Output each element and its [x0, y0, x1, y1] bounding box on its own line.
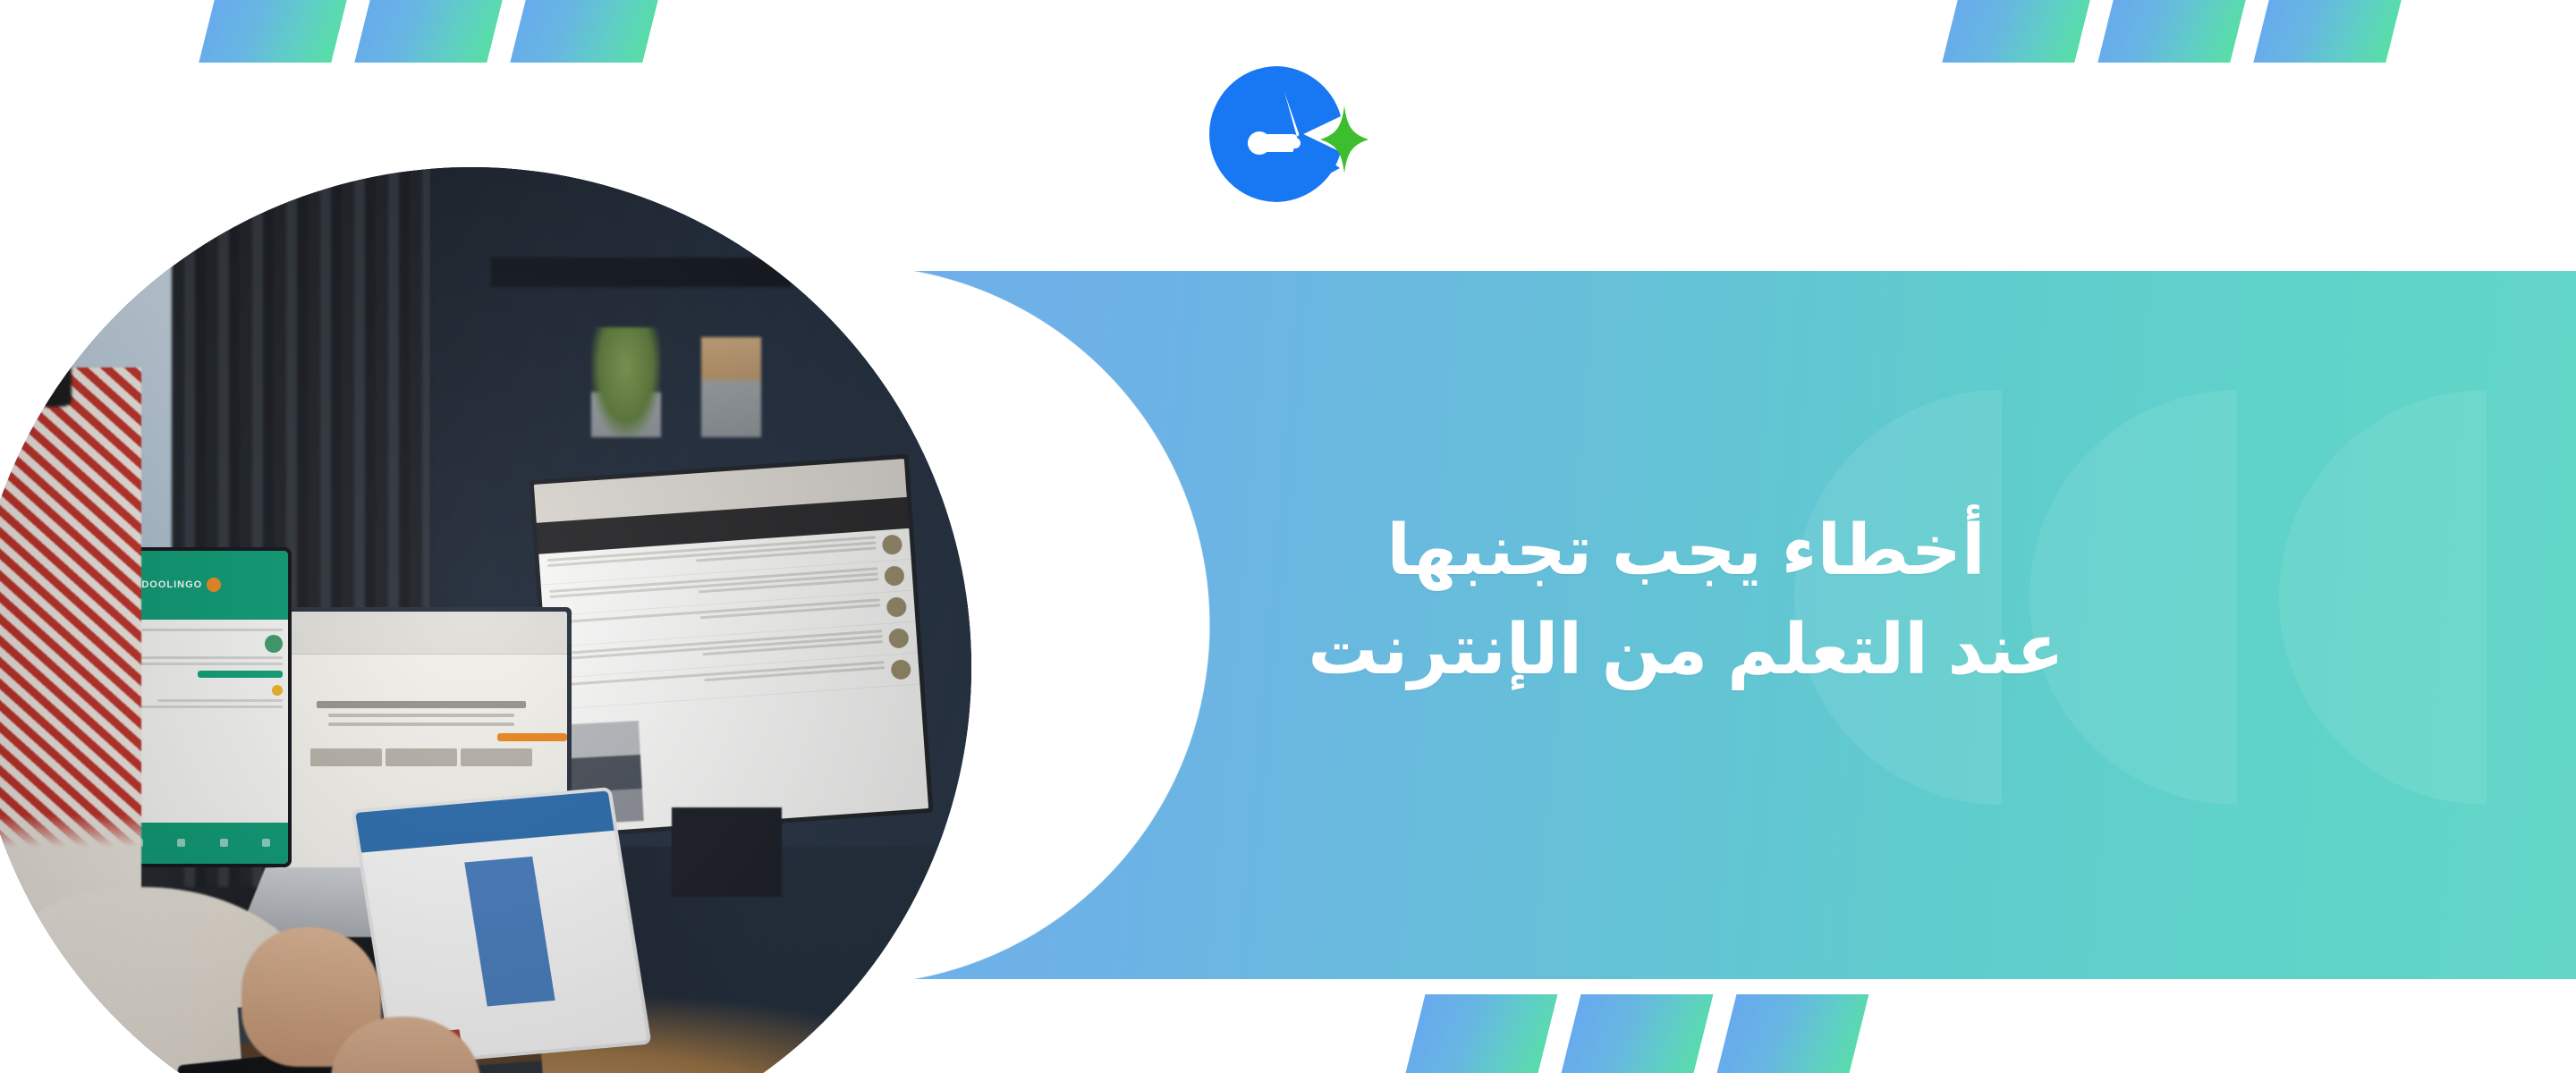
photo-thumbnail-strip	[310, 748, 531, 766]
photo-scene: DOOLINGO	[0, 167, 971, 1073]
slash-shape	[2253, 0, 2410, 63]
photo-avatar	[265, 635, 283, 653]
hero-photo: DOOLINGO	[0, 167, 971, 1073]
decoration-slashes-top-right	[1954, 0, 2398, 63]
photo-content-panel	[465, 857, 555, 1006]
brand-logo	[1207, 63, 1368, 206]
photo-plant	[591, 327, 661, 437]
slash-shape	[199, 0, 355, 63]
logo-node-stem-icon	[1258, 138, 1301, 148]
slash-shape	[510, 0, 666, 63]
photo-browser-chrome	[275, 612, 566, 655]
photo-cta-button	[497, 733, 567, 741]
headline-line-1: أخطاء يجب تجنبها	[1275, 501, 2097, 600]
banner-headline: أخطاء يجب تجنبها عند التعلم من الإنترنت	[1275, 501, 2097, 699]
photo-app-cta	[198, 671, 283, 678]
slash-shape	[354, 0, 511, 63]
photo-app-badge-icon	[272, 685, 283, 696]
photo-page-subtext	[328, 722, 514, 726]
photo-page-subtext	[328, 714, 514, 717]
slash-shape	[1706, 994, 1869, 1073]
slash-shape	[2097, 0, 2254, 63]
banner-canvas: DOOLINGO	[0, 0, 2576, 1073]
photo-shelf	[491, 258, 791, 288]
slash-shape	[1942, 0, 2098, 63]
photo-app-logo-icon	[207, 578, 221, 592]
photo-pencil-cup	[701, 337, 761, 437]
headline-line-2: عند التعلم من الإنترنت	[1275, 600, 2097, 699]
photo-monitor-stand	[672, 807, 782, 898]
quote-decoration-shape	[2279, 390, 2487, 805]
slash-shape	[1550, 994, 1714, 1073]
photo-page-heading	[317, 701, 526, 708]
photo-person-agal	[0, 347, 72, 407]
slash-shape	[1394, 994, 1558, 1073]
decoration-slashes-top-left	[211, 0, 655, 63]
decoration-slashes-bottom	[1410, 994, 1853, 1073]
photo-app-name: DOOLINGO	[141, 579, 202, 590]
